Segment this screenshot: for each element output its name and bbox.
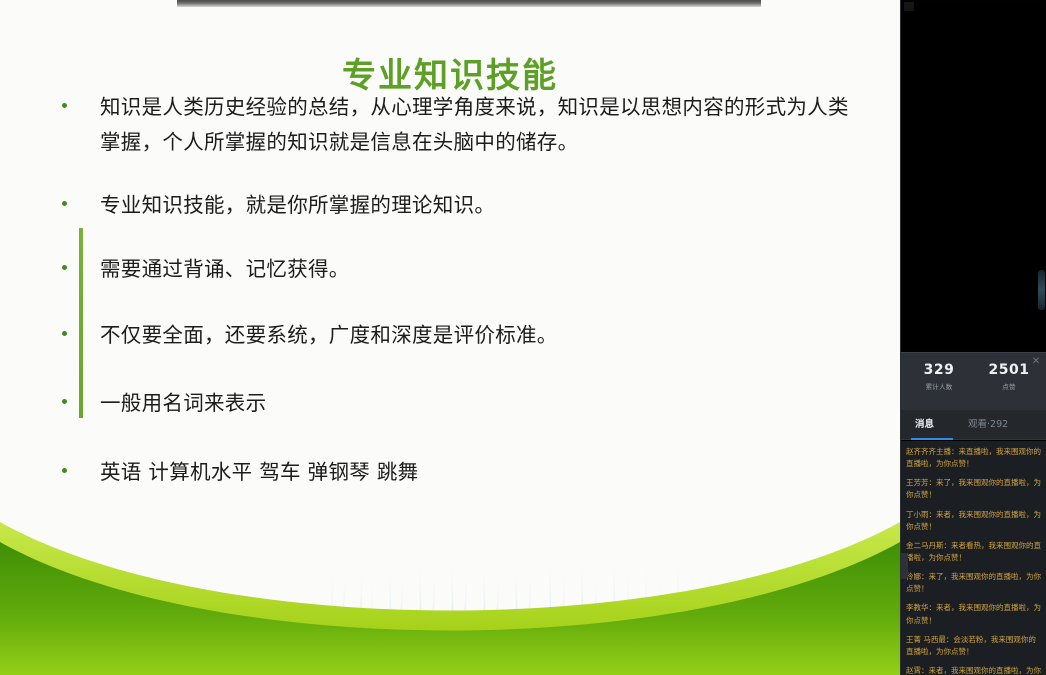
video-surface[interactable] [904, 6, 1045, 350]
wave-graphic [0, 490, 900, 675]
stats-bar: ✕ 329 累计人数 2501 点赞 [901, 352, 1046, 410]
chat-message: 伶娜：来了，我来围观你的直播啦，为你点赞！ [906, 571, 1043, 595]
panel-tabs: 消息 观看·292 [901, 410, 1046, 440]
chat-message: 王菁 马西最：会淡若粉，我来围观你的直播啦，为你点赞！ [906, 634, 1043, 658]
bullet-text: 一般用名词来表示 [100, 386, 852, 421]
screen-root: 专业知识技能 知识是人类历史经验的总结，从心理学角度来说，知识是以思想内容的形式… [0, 0, 1046, 675]
stat-label: 累计人数 [905, 381, 973, 391]
bullet-dot-icon [62, 201, 67, 206]
video-scrollbar[interactable] [1038, 270, 1045, 310]
bullet-text: 专业知识技能，就是你所掌握的理论知识。 [100, 188, 852, 223]
chat-message: 王芳芳：来了，我来围观你的直播啦，为你点赞！ [906, 477, 1043, 501]
bullet-dot-icon [62, 399, 67, 404]
stat-value: 329 [905, 362, 973, 378]
list-item: 英语 计算机水平 驾车 弹钢琴 跳舞 [62, 455, 852, 490]
list-item: 知识是人类历史经验的总结，从心理学角度来说，知识是以思想内容的形式为人类掌握，个… [62, 90, 852, 161]
chat-message: 赵霄：来者，我来围观你的直播啦，为你点赞！ [906, 665, 1043, 675]
stat-value: 2501 [975, 362, 1043, 378]
slide-wave-decoration [0, 490, 900, 675]
bullet-text: 知识是人类历史经验的总结，从心理学角度来说，知识是以思想内容的形式为人类掌握，个… [100, 90, 852, 161]
tab-messages[interactable]: 消息 [915, 410, 934, 440]
list-item: 一般用名词来表示 [62, 386, 852, 421]
stat-likes: 2501 点赞 [975, 362, 1043, 391]
wave-body [0, 542, 900, 675]
bullet-text: 需要通过背诵、记忆获得。 [100, 252, 852, 287]
tab-active-underline [911, 438, 953, 440]
bullet-dot-icon [62, 103, 67, 108]
chat-collapse-handle[interactable] [901, 553, 908, 579]
chat-message: 丁小雨：来者，我来围观你的直播啦，为你点赞！ [906, 509, 1043, 533]
bullet-list: 知识是人类历史经验的总结，从心理学角度来说，知识是以思想内容的形式为人类掌握，个… [62, 90, 852, 490]
bullet-text: 英语 计算机水平 驾车 弹钢琴 跳舞 [100, 455, 852, 490]
video-logo-icon [904, 2, 914, 11]
stat-cumulative-viewers: 329 累计人数 [905, 362, 973, 391]
list-item: 专业知识技能，就是你所掌握的理论知识。 [62, 188, 852, 223]
list-item: 需要通过背诵、记忆获得。 [62, 252, 852, 287]
chat-message: 金二马丹斯：来者看热，我来围观你的直播啦，为你点赞！ [906, 540, 1043, 564]
slide-top-bar [177, 0, 761, 7]
chat-message: 李教华：来者，我来围观你的直播啦，为你点赞！ [906, 602, 1043, 626]
bullet-text: 不仅要全面，还要系统，广度和深度是评价标准。 [100, 318, 852, 353]
presentation-slide: 专业知识技能 知识是人类历史经验的总结，从心理学角度来说，知识是以思想内容的形式… [0, 0, 900, 675]
bullet-dot-icon [62, 468, 67, 473]
list-item: 不仅要全面，还要系统，广度和深度是评价标准。 [62, 318, 852, 353]
chat-message-list[interactable]: 赵齐齐齐主播：来直播啦，我来围观你的直播啦，为你点赞！王芳芳：来了，我来围观你的… [901, 441, 1046, 675]
tab-viewers[interactable]: 观看·292 [968, 410, 1008, 440]
bullet-dot-icon [62, 331, 67, 336]
chat-message: 赵齐齐齐主播：来直播啦，我来围观你的直播啦，为你点赞！ [906, 446, 1043, 470]
bullet-dot-icon [62, 265, 67, 270]
stat-label: 点赞 [975, 381, 1043, 391]
live-stream-panel: ✕ 329 累计人数 2501 点赞 消息 观看·292 赵齐齐齐主播：来直播啦… [900, 0, 1046, 675]
video-player[interactable] [901, 0, 1046, 352]
